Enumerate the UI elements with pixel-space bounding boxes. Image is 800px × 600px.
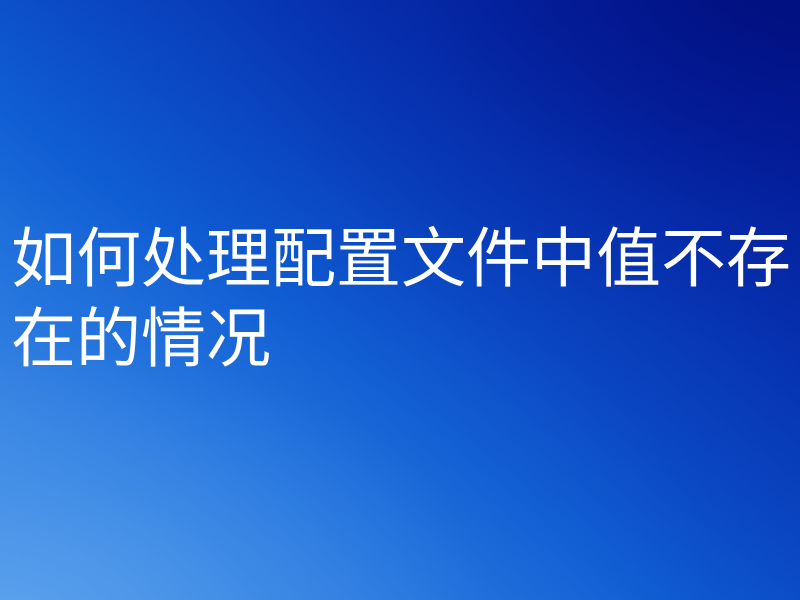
headline-container: 如何处理配置文件中值不存在的情况	[0, 0, 800, 600]
headline-text: 如何处理配置文件中值不存在的情况	[0, 220, 800, 380]
banner-canvas: 如何处理配置文件中值不存在的情况	[0, 0, 800, 600]
